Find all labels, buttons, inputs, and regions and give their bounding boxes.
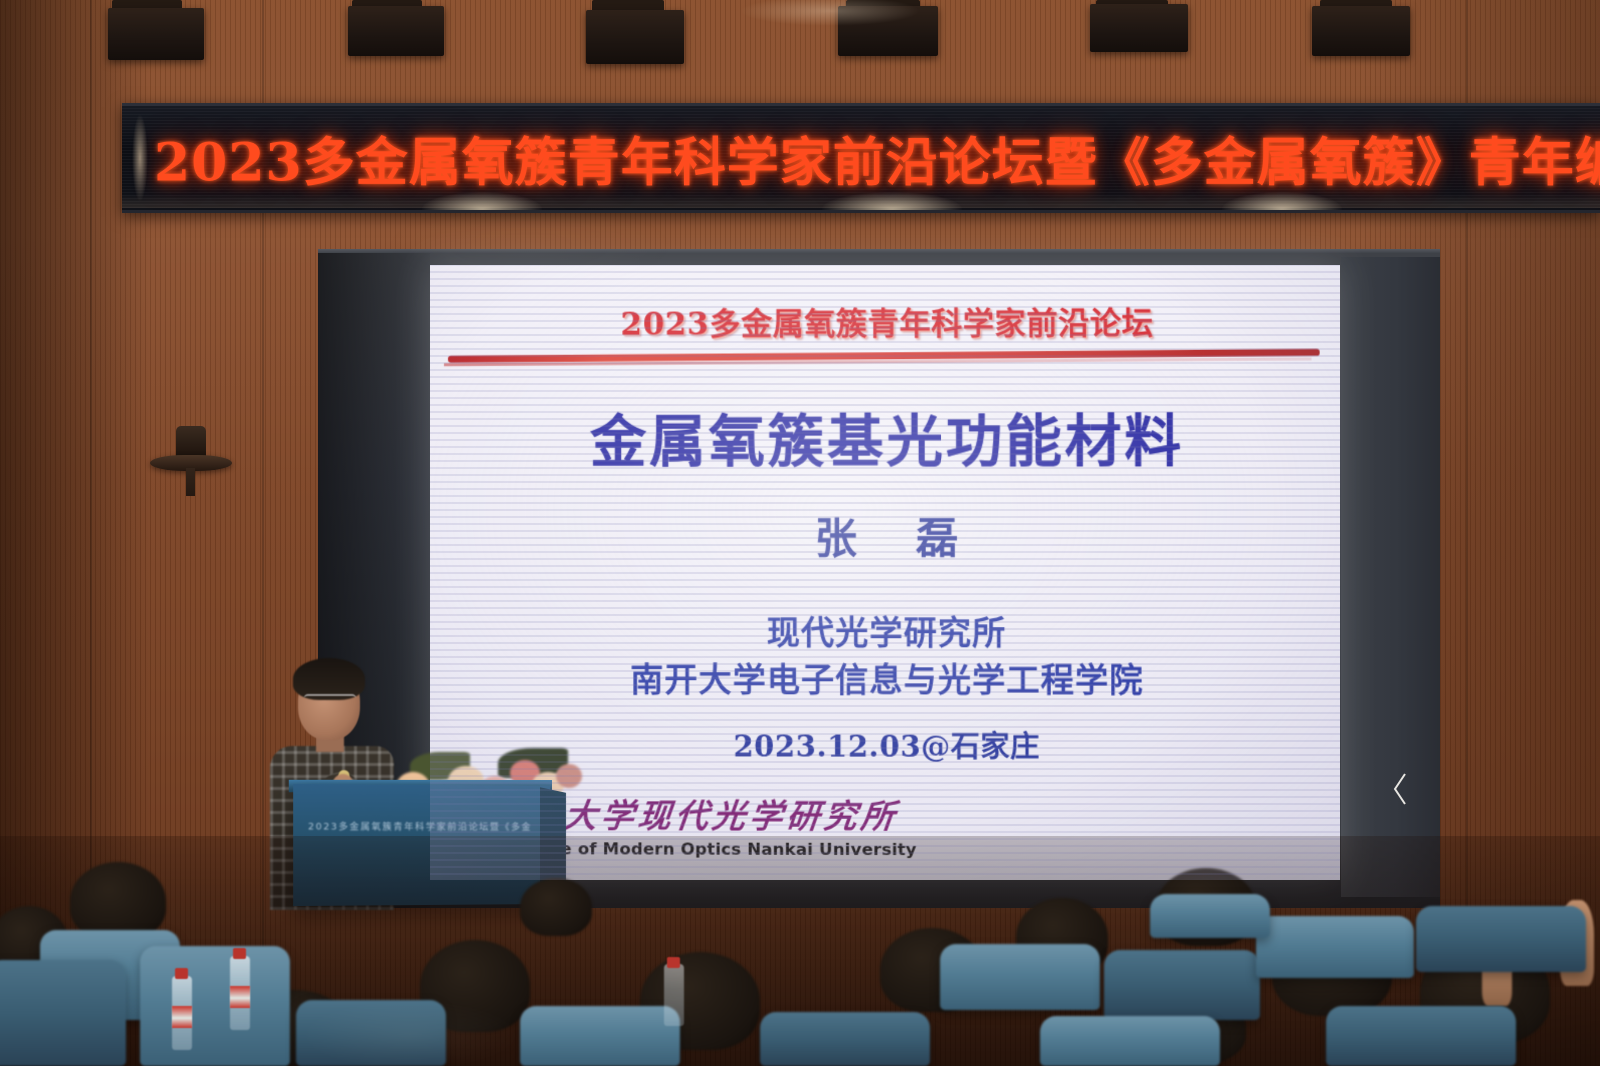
ceiling-speaker-icon [586,10,684,64]
audience-head [520,878,592,936]
audience-head [70,862,166,940]
chevron-left-icon [1392,772,1408,806]
led-banner-text: 2023多金属氧簇青年科学家前沿论坛暨《多金属氧簇》青年编委年会 [154,121,1600,196]
water-bottle [664,964,684,1026]
water-bottle-cap [667,957,680,968]
led-banner-edge-glow [132,114,148,202]
ceiling-speaker-icon [348,6,444,56]
audience-seat [1150,894,1270,938]
water-bottle-label [172,1006,192,1028]
slide-affiliation: 现代光学研究所 南开大学电子信息与光学工程学院 [430,609,1340,704]
slide-affiliation-line2: 南开大学电子信息与光学工程学院 [430,656,1340,704]
audience-seat [520,1006,680,1066]
auditorium-photo: 2023多金属氧簇青年科学家前沿论坛暨《多金属氧簇》青年编委年会 2023多金属… [0,0,1600,1066]
ceiling-speaker-icon [108,8,204,60]
audience-seat [1326,1006,1516,1066]
audience-seat [940,944,1100,1010]
ceiling-speaker-icon [1090,4,1188,52]
wall-sconce-icon [176,426,206,458]
audience-seat [1416,906,1586,972]
water-bottle-cap [175,968,188,979]
audience-seat [1040,1016,1220,1066]
presenter-glasses [304,694,356,707]
ceiling-speaker-icon [1312,6,1410,56]
slide-affiliation-line1: 现代光学研究所 [430,609,1340,657]
slide-title: 金属氧簇基光功能材料 [430,396,1340,478]
audience-seat [0,960,126,1066]
water-bottle-cap [233,948,246,959]
audience-seat [296,1000,446,1066]
screen-side-panel [1341,257,1440,897]
audience-seat [1104,950,1260,1020]
slide-speaker-name: 张 磊 [430,505,1340,566]
podium-sign-text: 2023多金属氧簇青年科学家前沿论坛暨《多金属氧簇》青年编委年会 [308,819,530,836]
audience-seat [140,946,290,1066]
wall-sconce-arm [186,468,195,496]
ceiling-speaker-icon [838,6,938,56]
audience-seat [760,1012,930,1066]
led-banner: 2023多金属氧簇青年科学家前沿论坛暨《多金属氧簇》青年编委年会 [122,103,1600,213]
audience-seat [1256,916,1414,978]
slide-header-text: 2023多金属氧簇青年科学家前沿论坛 [430,297,1340,344]
water-bottle-label [230,986,250,1008]
